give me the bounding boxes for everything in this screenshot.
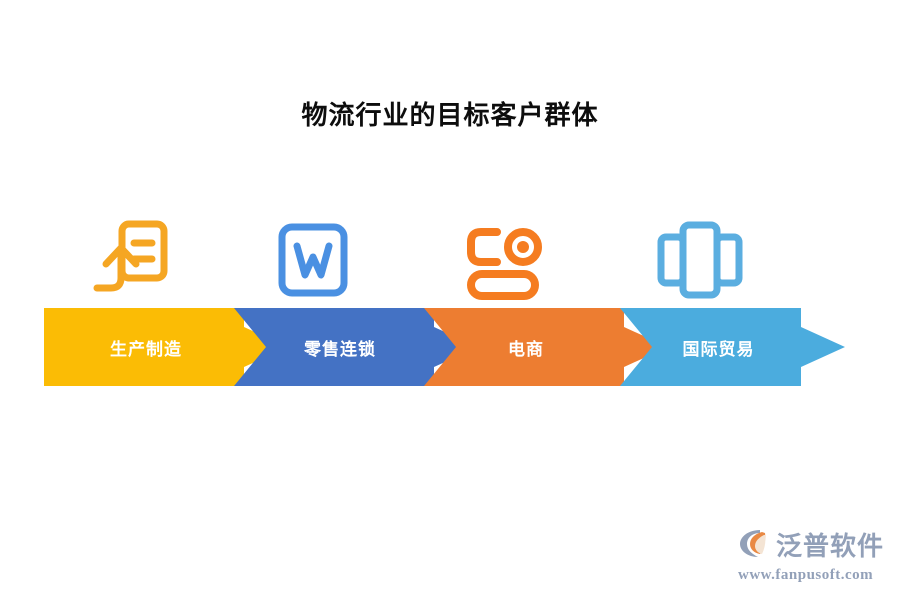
flow-step-3[interactable]: 国际贸易: [620, 308, 845, 386]
carousel-cards-icon: [645, 215, 755, 305]
slide-canvas: 物流行业的目标客户群体: [0, 0, 900, 600]
upload-document-icon: [68, 215, 178, 305]
brand-watermark: 泛普软件 www.fanpusoft.com: [738, 527, 884, 584]
page-title: 物流行业的目标客户群体: [0, 95, 900, 132]
process-flow: 生产制造 零售连锁 电商 国际贸易: [0, 308, 900, 386]
w-square-icon: [258, 215, 368, 305]
flow-step-label: 生产制造: [110, 335, 182, 360]
brand-name: 泛普软件: [776, 533, 884, 559]
flow-step-label: 零售连锁: [304, 335, 376, 360]
fanpu-logo-icon: [738, 527, 772, 564]
flow-step-label: 电商: [508, 335, 544, 360]
flow-step-label: 国际贸易: [683, 335, 755, 360]
scanner-target-icon: [448, 215, 558, 305]
brand-url: www.fanpusoft.com: [738, 567, 873, 584]
